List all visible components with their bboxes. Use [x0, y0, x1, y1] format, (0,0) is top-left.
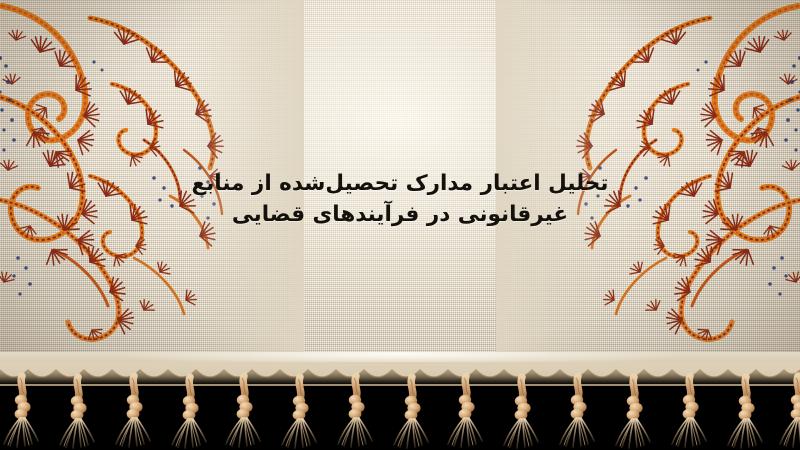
knotted-tassel-fringe	[0, 362, 800, 450]
ornament-top-right	[496, 0, 800, 360]
ornament-top-left	[0, 0, 304, 360]
title-card-canvas: تحلیل اعتبار مدارک تحصیل‌شده از منابع غی…	[0, 0, 800, 450]
